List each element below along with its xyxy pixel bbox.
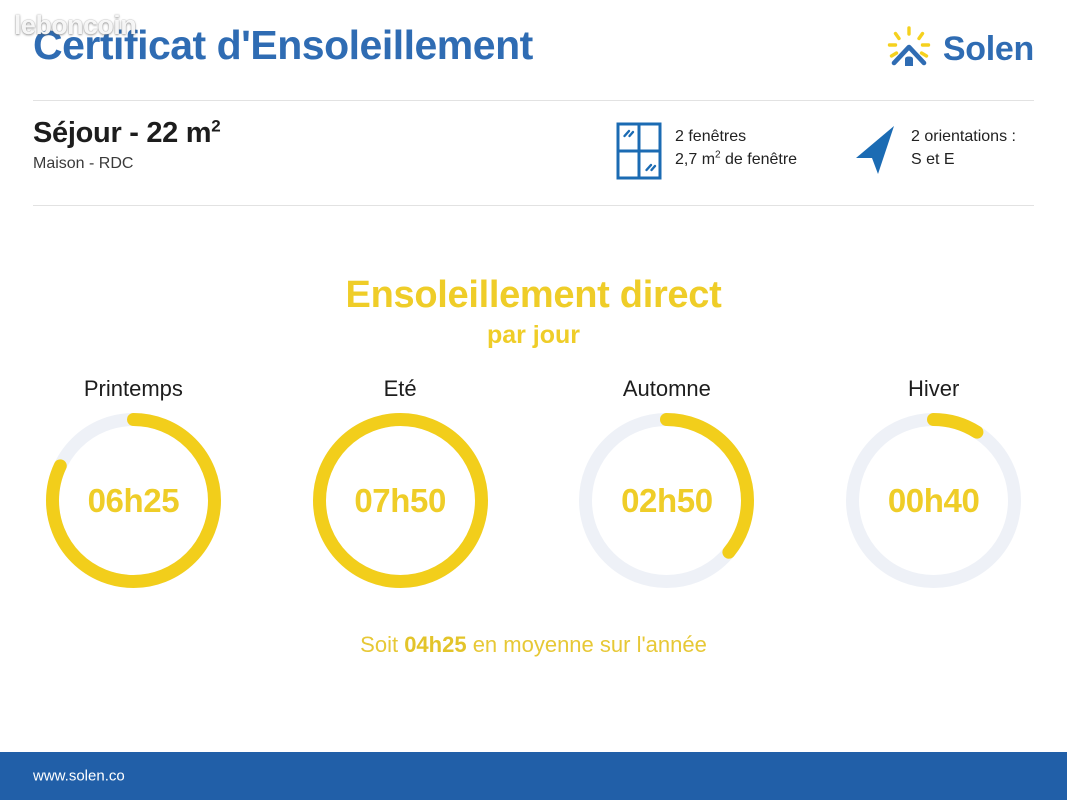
donut-gauge: 06h25 xyxy=(46,413,221,588)
donut-cell-hiver: Hiver00h40 xyxy=(809,375,1059,588)
donut-gauge: 00h40 xyxy=(846,413,1021,588)
donut-season-label: Printemps xyxy=(8,375,258,403)
average-suffix: en moyenne sur l'année xyxy=(467,632,707,657)
brand-logo: Solen xyxy=(886,26,1034,73)
divider-bottom xyxy=(33,205,1034,206)
page-header: Certificat d'Ensoleillement Solen xyxy=(0,0,1067,100)
donut-season-label: Automne xyxy=(542,375,792,403)
donut-value-label: 00h40 xyxy=(846,413,1021,588)
donut-value-label: 06h25 xyxy=(46,413,221,588)
donut-value-label: 07h50 xyxy=(313,413,488,588)
section-title: Ensoleillement direct xyxy=(0,275,1067,317)
windows-count: 2 fenêtres xyxy=(675,126,797,149)
orientations-values: S et E xyxy=(911,149,1016,172)
donut-cell-automne: Automne02h50 xyxy=(542,375,792,588)
orientations-count: 2 orientations : xyxy=(911,126,1016,149)
windows-fact: 2 fenêtres 2,7 m2 de fenêtre xyxy=(616,122,797,185)
yearly-average-note: Soit 04h25 en moyenne sur l'année xyxy=(0,632,1067,658)
window-icon xyxy=(616,122,662,185)
room-unit-superscript: 2 xyxy=(211,116,220,135)
room-title-text: Séjour - 22 m xyxy=(33,117,211,149)
average-value: 04h25 xyxy=(404,632,466,657)
donut-season-label: Hiver xyxy=(809,375,1059,403)
donut-value-label: 02h50 xyxy=(579,413,754,588)
orientations-fact: 2 orientations : S et E xyxy=(852,122,1016,185)
orientations-fact-text: 2 orientations : S et E xyxy=(911,122,1016,171)
page-title: Certificat d'Ensoleillement xyxy=(33,22,533,69)
donut-gauge: 07h50 xyxy=(313,413,488,588)
donut-gauge: 02h50 xyxy=(579,413,754,588)
footer-website-link[interactable]: www.solen.co xyxy=(33,768,125,785)
seasonal-donut-chart-group: Printemps06h25Eté07h50Automne02h50Hiver0… xyxy=(0,375,1067,588)
windows-fact-text: 2 fenêtres 2,7 m2 de fenêtre xyxy=(675,122,797,171)
brand-name: Solen xyxy=(943,30,1034,69)
room-subtitle: Maison - RDC xyxy=(33,155,220,173)
page-footer: www.solen.co xyxy=(0,752,1067,800)
donut-cell-printemps: Printemps06h25 xyxy=(8,375,258,588)
room-info-row: Séjour - 22 m2 Maison - RDC 2 fenêtres 2… xyxy=(0,100,1067,205)
section-heading: Ensoleillement direct par jour xyxy=(0,275,1067,350)
windows-area: 2,7 m2 de fenêtre xyxy=(675,149,797,172)
solen-sun-house-icon xyxy=(886,26,932,73)
windows-area-value: 2,7 m xyxy=(675,151,715,168)
section-subtitle: par jour xyxy=(0,321,1067,350)
donut-cell-eté: Eté07h50 xyxy=(275,375,525,588)
room-block: Séjour - 22 m2 Maison - RDC xyxy=(33,118,220,173)
navigation-arrow-icon xyxy=(852,122,898,185)
room-title: Séjour - 22 m2 xyxy=(33,118,220,148)
donut-season-label: Eté xyxy=(275,375,525,403)
windows-area-suffix: de fenêtre xyxy=(721,151,798,168)
average-prefix: Soit xyxy=(360,632,404,657)
